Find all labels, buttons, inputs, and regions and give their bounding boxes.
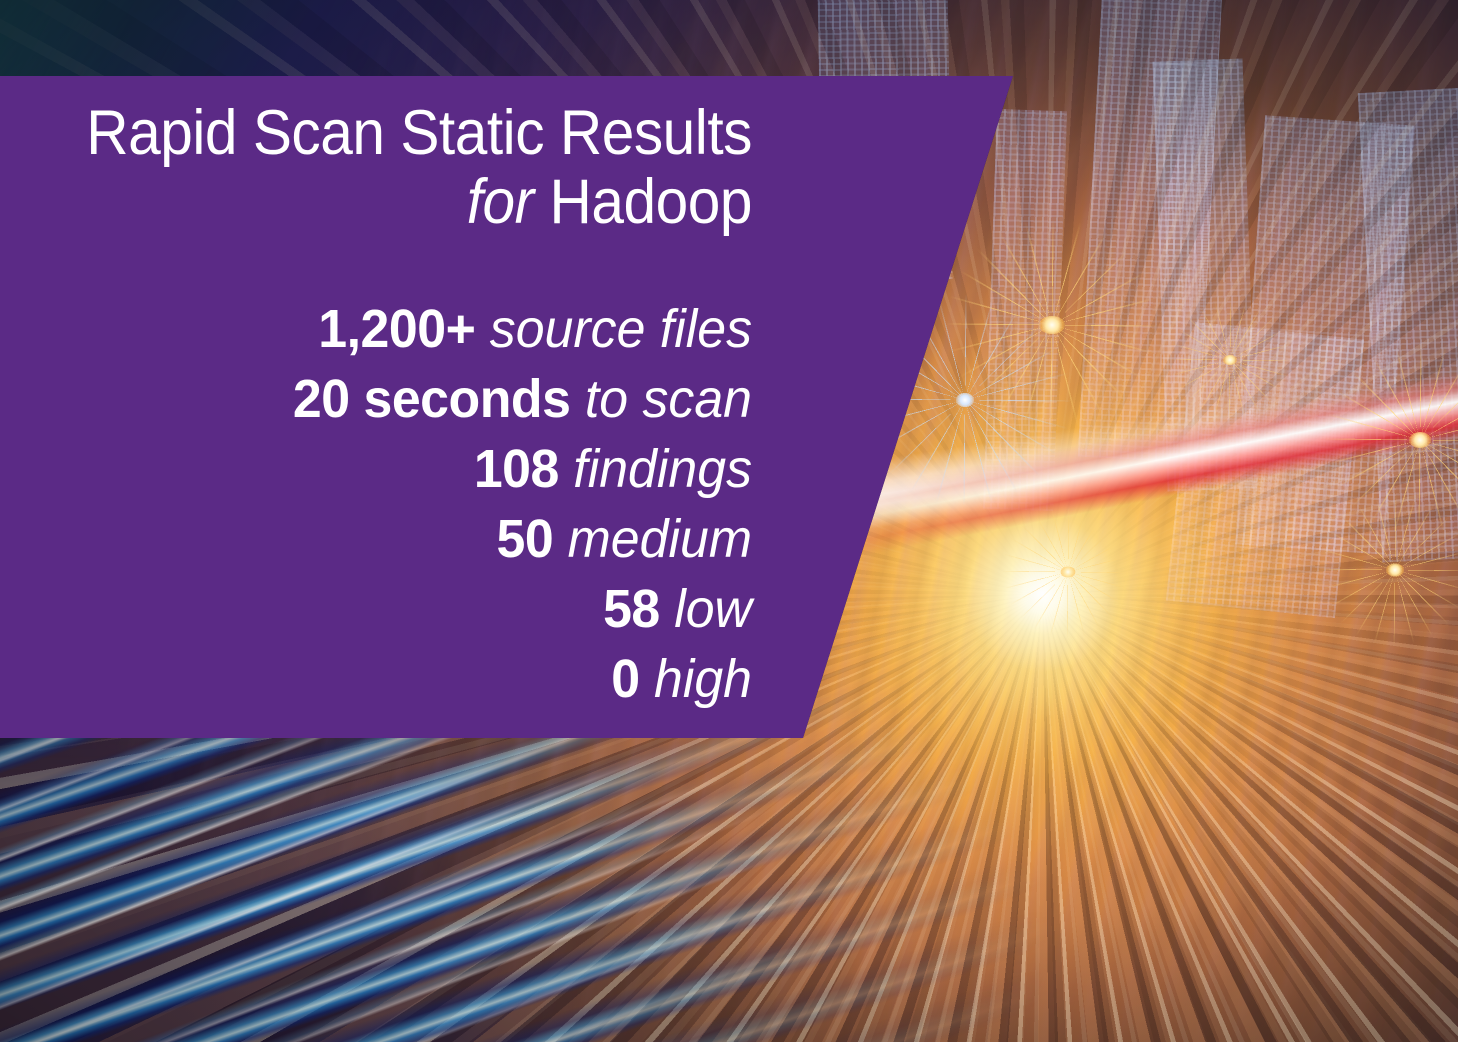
stat-value-scan-time: 20 seconds xyxy=(293,369,571,429)
stat-row-scan-time: 20 seconds to scan xyxy=(30,364,752,434)
stat-space xyxy=(475,299,489,359)
stat-row-findings: 108 findings xyxy=(30,434,752,504)
stat-row-source-files: 1,200+ source files xyxy=(30,294,752,364)
stat-space xyxy=(640,649,654,709)
page-title-subject: Hadoop xyxy=(550,167,752,237)
stat-label-medium: medium xyxy=(568,509,752,569)
stat-space xyxy=(553,509,567,569)
stat-value-high: 0 xyxy=(611,649,639,709)
stat-label-high: high xyxy=(654,649,752,709)
stat-row-low: 58 low xyxy=(30,574,752,644)
panel-content: Rapid Scan Static Results for Hadoop 1,2… xyxy=(0,76,752,714)
stat-value-source-files: 1,200+ xyxy=(318,299,475,359)
stat-value-findings: 108 xyxy=(474,439,559,499)
stat-label-low: low xyxy=(674,579,752,639)
stat-label-findings: findings xyxy=(573,439,752,499)
slide-canvas: Rapid Scan Static Results for Hadoop 1,2… xyxy=(0,0,1458,1042)
page-title-for-word: for xyxy=(467,167,534,237)
stat-space xyxy=(660,579,674,639)
panel-title-block: Rapid Scan Static Results for Hadoop xyxy=(0,102,752,234)
stat-space xyxy=(570,369,584,429)
page-title-spacer xyxy=(534,167,550,237)
page-title-line-2: for Hadoop xyxy=(53,171,752,234)
stat-value-medium: 50 xyxy=(496,509,553,569)
stat-row-high: 0 high xyxy=(30,644,752,714)
stat-value-low: 58 xyxy=(603,579,660,639)
stat-label-source-files: source files xyxy=(490,299,752,359)
stat-label-scan-time: to scan xyxy=(585,369,752,429)
stat-row-medium: 50 medium xyxy=(30,504,752,574)
page-title-line-1: Rapid Scan Static Results xyxy=(53,102,752,165)
scan-stats-list: 1,200+ source files 20 seconds to scan 1… xyxy=(0,294,752,714)
stat-space xyxy=(559,439,573,499)
